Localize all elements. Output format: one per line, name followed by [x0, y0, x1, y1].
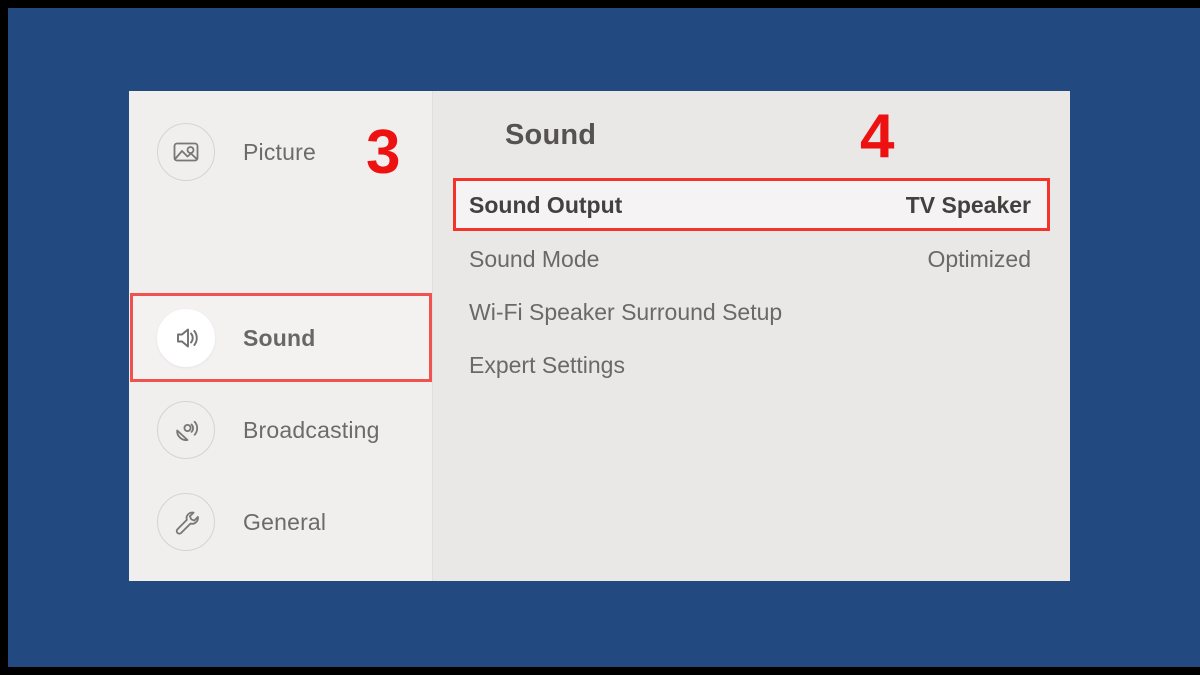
satellite-dish-icon — [157, 401, 215, 459]
settings-content: Sound Sound Output TV Speaker Sound Mode… — [433, 91, 1070, 581]
option-row-wifi-surround[interactable]: Wi-Fi Speaker Surround Setup — [453, 287, 1050, 337]
sidebar-item-label: Broadcasting — [243, 417, 380, 444]
option-row-expert-settings[interactable]: Expert Settings — [453, 340, 1050, 390]
sidebar-item-label: Picture — [243, 139, 316, 166]
step-marker-3: 3 — [366, 122, 400, 184]
speaker-icon — [157, 309, 215, 367]
sidebar-item-broadcasting[interactable]: Broadcasting — [129, 387, 433, 473]
screenshot-root: Picture Sound — [0, 0, 1200, 675]
option-label: Sound Mode — [469, 246, 599, 273]
option-label: Expert Settings — [469, 352, 625, 379]
step-marker-4: 4 — [860, 106, 894, 168]
option-label: Sound Output — [469, 192, 622, 219]
sidebar-item-label: Sound — [243, 325, 316, 352]
tv-settings-panel: Picture Sound — [129, 91, 1070, 581]
option-row-sound-output[interactable]: Sound Output TV Speaker — [453, 180, 1050, 230]
picture-icon — [157, 123, 215, 181]
sidebar-item-label: General — [243, 509, 326, 536]
option-label: Wi-Fi Speaker Surround Setup — [469, 299, 782, 326]
option-value: TV Speaker — [906, 192, 1031, 219]
sidebar-item-general[interactable]: General — [129, 479, 433, 565]
wrench-icon — [157, 493, 215, 551]
option-value: Optimized — [927, 246, 1031, 273]
page-title: Sound — [505, 119, 596, 152]
option-row-sound-mode[interactable]: Sound Mode Optimized — [453, 234, 1050, 284]
sidebar-item-support[interactable]: Support — [129, 571, 433, 581]
sidebar-item-sound[interactable]: Sound — [129, 295, 433, 381]
